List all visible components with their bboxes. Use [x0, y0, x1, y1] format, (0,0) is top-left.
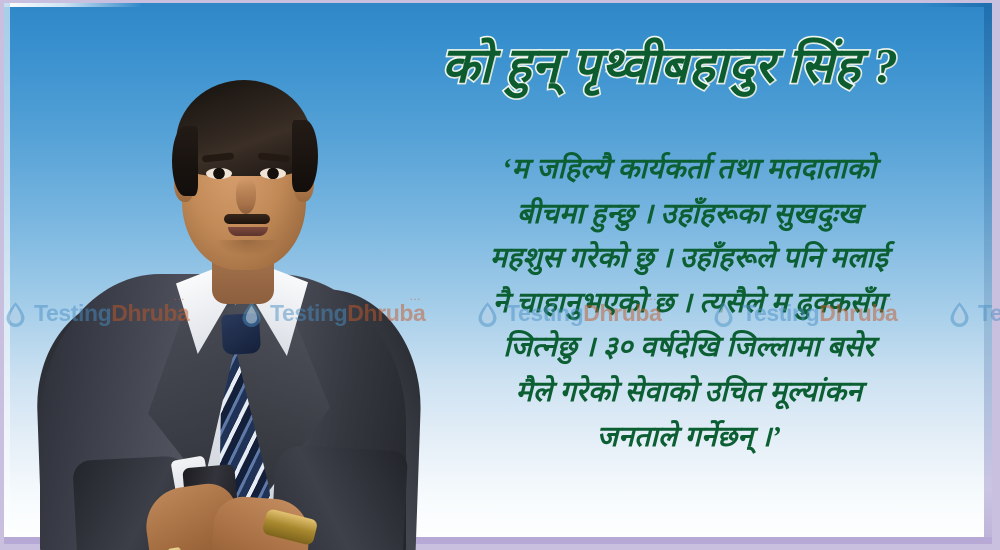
page-title: को हुन् पृथ्वीबहादुर सिंह ? [352, 40, 988, 93]
background-left-edge [4, 3, 10, 544]
hair-side-right [292, 120, 318, 192]
mustache [224, 214, 270, 224]
quote-line-3: महशुस गरेको छु । उहाँहरूले पनि मलाई [386, 237, 992, 282]
necktie-knot [221, 313, 261, 355]
quote-line-1: ‘म जहिल्यै कार्यकर्ता तथा मतदाताको [386, 148, 992, 193]
quote-block: ‘म जहिल्यै कार्यकर्ता तथा मतदाताको बीचमा… [386, 148, 992, 460]
eye-left [206, 168, 232, 179]
quote-line-5: जित्नेछु । ३० वर्षदेखि जिल्लामा बसेर [386, 326, 992, 371]
quote-line-4: नै चाहानुभएको छ । त्यसैले म ढुक्कसँग [386, 282, 992, 327]
mouth [228, 227, 268, 236]
background-top-edge [4, 3, 992, 7]
eye-right [260, 168, 286, 179]
chin-shadow [216, 240, 278, 256]
quote-line-7: जनताले गर्नेछन् ।’ [386, 416, 992, 461]
quote-line-6: मैले गरेको सेवाको उचित मूल्यांकन [386, 371, 992, 416]
nose [236, 178, 256, 214]
news-poster: को हुन् पृथ्वीबहादुर सिंह ? ‘म जहिल्यै क… [0, 0, 1000, 550]
subject-photo [36, 62, 416, 550]
quote-line-2: बीचमा हुन्छु । उहाँहरूका सुखदुःख [386, 193, 992, 238]
hair-side-left [172, 126, 198, 196]
